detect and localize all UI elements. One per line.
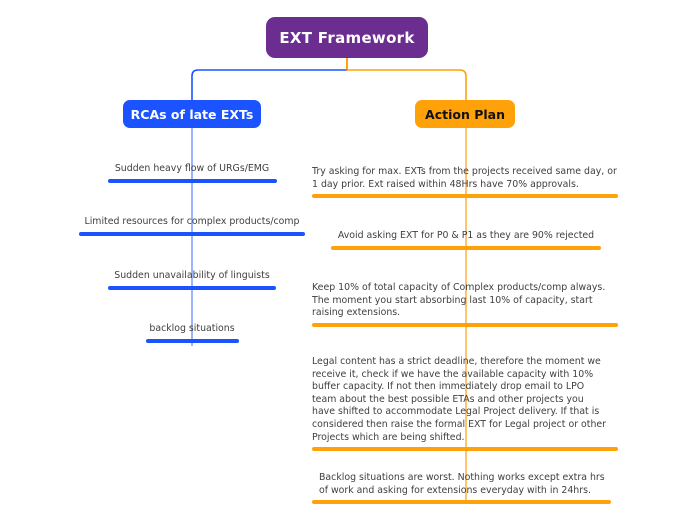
- leaf-action-2-text: Avoid asking EXT for P0 & P1 as they are…: [331, 230, 601, 243]
- branch-node-action-plan[interactable]: Action Plan: [415, 100, 515, 128]
- leaf-rcas-2-text: Limited resources for complex products/c…: [78, 216, 306, 229]
- branch-node-action-plan-label: Action Plan: [425, 107, 505, 122]
- leaf-action-3[interactable]: Keep 10% of total capacity of Complex pr…: [312, 282, 618, 327]
- mindmap-canvas: EXT Framework RCAs of late EXTs Sudden h…: [0, 0, 696, 520]
- leaf-rcas-4-text: backlog situations: [78, 323, 306, 336]
- leaf-rcas-4-underline: [146, 339, 239, 343]
- leaf-action-4[interactable]: Legal content has a strict deadline, the…: [312, 356, 608, 451]
- leaf-rcas-3-text: Sudden unavailability of linguists: [78, 270, 306, 283]
- root-node-ext-framework[interactable]: EXT Framework: [266, 17, 428, 58]
- leaf-action-1-underline: [312, 194, 618, 198]
- leaf-action-2-underline: [331, 246, 601, 250]
- leaf-action-5-text: Backlog situations are worst. Nothing wo…: [319, 472, 613, 497]
- leaf-action-2[interactable]: Avoid asking EXT for P0 & P1 as they are…: [331, 230, 601, 250]
- leaf-rcas-4[interactable]: backlog situations: [78, 323, 306, 343]
- branch-node-rcas[interactable]: RCAs of late EXTs: [123, 100, 261, 128]
- leaf-rcas-1-underline: [108, 179, 277, 183]
- root-node-label: EXT Framework: [279, 29, 414, 47]
- leaf-action-4-underline: [312, 447, 618, 451]
- leaf-action-5[interactable]: Backlog situations are worst. Nothing wo…: [319, 472, 613, 504]
- leaf-rcas-1[interactable]: Sudden heavy flow of URGs/EMG: [78, 163, 306, 183]
- branch-node-rcas-label: RCAs of late EXTs: [131, 107, 254, 122]
- leaf-action-1-text: Try asking for max. EXTs from the projec…: [312, 166, 618, 191]
- leaf-rcas-2[interactable]: Limited resources for complex products/c…: [78, 216, 306, 236]
- leaf-action-1[interactable]: Try asking for max. EXTs from the projec…: [312, 166, 618, 198]
- leaf-action-5-underline: [312, 500, 611, 504]
- leaf-rcas-3-underline: [108, 286, 276, 290]
- leaf-action-4-text: Legal content has a strict deadline, the…: [312, 356, 608, 444]
- leaf-rcas-3[interactable]: Sudden unavailability of linguists: [78, 270, 306, 290]
- leaf-rcas-2-underline: [79, 232, 305, 236]
- leaf-action-3-underline: [312, 323, 618, 327]
- leaf-action-3-text: Keep 10% of total capacity of Complex pr…: [312, 282, 618, 320]
- leaf-rcas-1-text: Sudden heavy flow of URGs/EMG: [78, 163, 306, 176]
